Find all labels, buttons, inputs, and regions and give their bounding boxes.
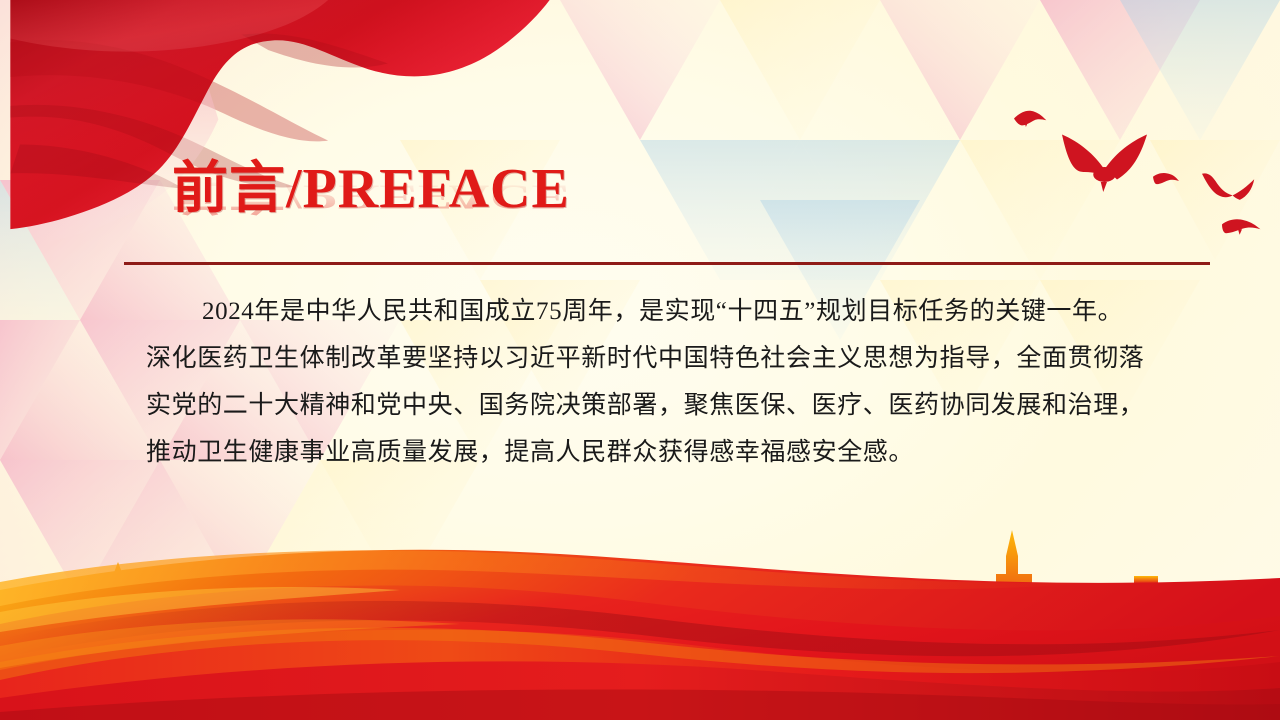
body-line: 实党的二十大精神和党中央、国务院决策部署，聚焦医保、医疗、医药协同发展和治理， (146, 382, 1210, 429)
flying-birds-decoration (990, 96, 1270, 236)
title-divider (124, 262, 1210, 265)
body-line: 推动卫生健康事业高质量发展，提高人民群众获得感幸福感安全感。 (146, 429, 1210, 476)
body-line: 2024年是中华人民共和国成立75周年，是实现“十四五”规划目标任务的关键一年。 (146, 288, 1210, 335)
bird-icon (1062, 135, 1147, 193)
bird-icon (1202, 173, 1254, 200)
page-title: 前言/PREFACE (172, 158, 872, 220)
body-paragraph: 2024年是中华人民共和国成立75周年，是实现“十四五”规划目标任务的关键一年。… (146, 288, 1210, 476)
red-silk-waves-decoration (0, 520, 1280, 720)
body-line: 深化医药卫生体制改革要坚持以习近平新时代中国特色社会主义思想为指导，全面贯彻落 (146, 335, 1210, 382)
bird-icon (1014, 111, 1046, 127)
bird-icon (1153, 173, 1179, 184)
bird-icon (1222, 219, 1260, 235)
preface-slide: 前言/PREFACE 前言/PREFACE 2024年是中华人民共和国成立75周… (0, 0, 1280, 720)
slide-title-block: 前言/PREFACE 前言/PREFACE (172, 158, 872, 268)
